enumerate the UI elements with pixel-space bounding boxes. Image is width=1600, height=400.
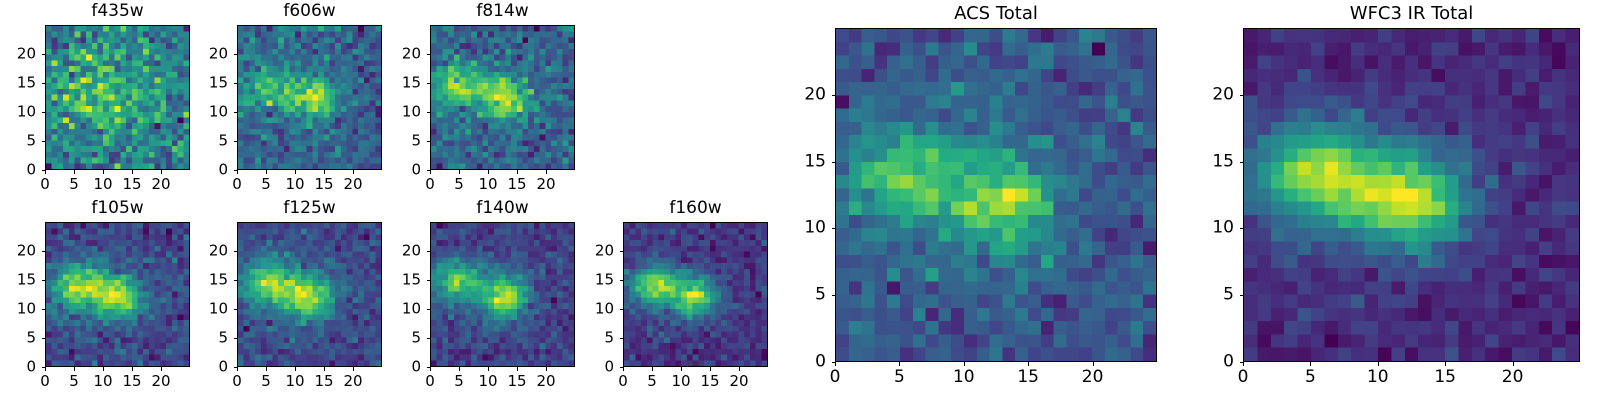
y-axis-tick	[427, 367, 431, 368]
x-axis-tick-label: 15	[122, 374, 141, 389]
y-axis-tick-label: 10	[194, 105, 228, 120]
x-axis-tick-label: 5	[1305, 369, 1316, 386]
y-axis-tick-label: 10	[792, 220, 826, 237]
panel-title: f125w	[237, 200, 382, 217]
y-axis-tick-label: 5	[194, 134, 228, 149]
x-axis-tick-label: 15	[507, 374, 526, 389]
x-axis-tick-label: 0	[232, 374, 242, 389]
x-axis-tick	[295, 367, 296, 371]
y-axis-tick-label: 15	[194, 76, 228, 91]
y-axis-tick	[620, 338, 624, 339]
x-axis-tick	[652, 367, 653, 371]
heatmap-image	[430, 25, 575, 170]
x-axis-tick-label: 20	[536, 177, 555, 192]
y-axis-tick-label: 5	[387, 331, 421, 346]
y-axis-tick	[427, 338, 431, 339]
y-axis-tick	[427, 170, 431, 171]
x-axis-tick	[739, 367, 740, 371]
y-axis-tick-label: 10	[387, 302, 421, 317]
y-axis-tick-label: 5	[2, 331, 36, 346]
y-axis-tick-label: 20	[194, 244, 228, 259]
panel-title: f814w	[430, 3, 575, 20]
y-axis-tick-label: 10	[1200, 220, 1234, 237]
y-axis-tick-label: 10	[2, 302, 36, 317]
x-axis-tick	[1513, 362, 1514, 366]
y-axis-tick	[427, 280, 431, 281]
y-axis-tick-label: 20	[580, 244, 614, 259]
x-axis-tick-label: 5	[454, 177, 464, 192]
x-axis-tick	[459, 170, 460, 174]
x-axis-tick	[324, 367, 325, 371]
y-axis-tick-label: 0	[387, 163, 421, 178]
panel-title: f140w	[430, 200, 575, 217]
y-axis-tick	[427, 141, 431, 142]
y-axis-tick	[234, 367, 238, 368]
y-axis-tick	[427, 112, 431, 113]
x-axis-tick	[488, 170, 489, 174]
x-axis-tick-label: 5	[261, 177, 271, 192]
x-axis-tick	[353, 170, 354, 174]
y-axis-tick	[620, 280, 624, 281]
x-axis-tick-label: 5	[454, 374, 464, 389]
x-axis-tick-label: 20	[729, 374, 748, 389]
y-axis-tick	[427, 251, 431, 252]
y-axis-tick	[1240, 362, 1244, 363]
panel-title: f606w	[237, 3, 382, 20]
y-axis-tick	[234, 141, 238, 142]
x-axis-tick-label: 20	[343, 177, 362, 192]
y-axis-tick	[620, 367, 624, 368]
x-axis-tick-label: 10	[285, 177, 304, 192]
x-axis-tick-label: 20	[343, 374, 362, 389]
x-axis-tick-label: 10	[478, 177, 497, 192]
y-axis-tick	[234, 309, 238, 310]
y-axis-tick	[832, 95, 836, 96]
x-axis-tick	[74, 367, 75, 371]
x-axis-tick-label: 5	[894, 369, 905, 386]
x-axis-tick	[517, 170, 518, 174]
x-axis-tick-label: 15	[314, 374, 333, 389]
x-axis-tick	[45, 170, 46, 174]
y-axis-tick	[234, 54, 238, 55]
y-axis-tick-label: 20	[194, 47, 228, 62]
y-axis-tick	[427, 54, 431, 55]
y-axis-tick	[832, 362, 836, 363]
y-axis-tick-label: 0	[2, 360, 36, 375]
figure-canvas: f435w0510152005101520f606w05101520051015…	[0, 0, 1600, 400]
x-axis-tick	[430, 170, 431, 174]
y-axis-tick-label: 5	[387, 134, 421, 149]
x-axis-tick-label: 15	[1017, 369, 1039, 386]
x-axis-tick	[488, 367, 489, 371]
y-axis-tick	[42, 338, 46, 339]
y-axis-tick	[42, 141, 46, 142]
y-axis-tick	[42, 170, 46, 171]
x-axis-tick	[1093, 362, 1094, 366]
y-axis-tick-label: 0	[194, 163, 228, 178]
x-axis-tick	[74, 170, 75, 174]
y-axis-tick-label: 15	[2, 273, 36, 288]
x-axis-tick	[430, 367, 431, 371]
y-axis-tick-label: 15	[1200, 153, 1234, 170]
y-axis-tick-label: 0	[1200, 354, 1234, 371]
y-axis-tick-label: 20	[792, 86, 826, 103]
x-axis-tick	[103, 170, 104, 174]
heatmap-image	[45, 222, 190, 367]
x-axis-tick-label: 0	[40, 177, 50, 192]
x-axis-tick-label: 10	[285, 374, 304, 389]
x-axis-tick-label: 0	[425, 374, 435, 389]
y-axis-tick-label: 5	[2, 134, 36, 149]
x-axis-tick-label: 15	[507, 177, 526, 192]
y-axis-tick-label: 15	[792, 153, 826, 170]
y-axis-tick-label: 10	[580, 302, 614, 317]
x-axis-tick-label: 5	[261, 374, 271, 389]
x-axis-tick	[459, 367, 460, 371]
x-axis-tick-label: 20	[151, 177, 170, 192]
y-axis-tick	[234, 251, 238, 252]
x-axis-tick	[132, 367, 133, 371]
x-axis-tick-label: 0	[232, 177, 242, 192]
x-axis-tick-label: 20	[536, 374, 555, 389]
heatmap-image	[45, 25, 190, 170]
x-axis-tick-label: 5	[69, 177, 79, 192]
heatmap-image	[623, 222, 768, 367]
y-axis-tick-label: 5	[792, 287, 826, 304]
y-axis-tick	[234, 170, 238, 171]
y-axis-tick	[234, 338, 238, 339]
x-axis-tick-label: 0	[425, 177, 435, 192]
y-axis-tick-label: 5	[580, 331, 614, 346]
y-axis-tick-label: 15	[387, 76, 421, 91]
y-axis-tick-label: 15	[580, 273, 614, 288]
x-axis-tick-label: 15	[314, 177, 333, 192]
y-axis-tick	[1240, 162, 1244, 163]
panel-title: ACS Total	[835, 5, 1157, 23]
y-axis-tick-label: 0	[792, 354, 826, 371]
y-axis-tick	[832, 162, 836, 163]
heatmap-image	[1243, 28, 1580, 362]
x-axis-tick	[835, 362, 836, 366]
y-axis-tick-label: 5	[194, 331, 228, 346]
x-axis-tick-label: 15	[1434, 369, 1456, 386]
x-axis-tick-label: 20	[1502, 369, 1524, 386]
x-axis-tick	[517, 367, 518, 371]
x-axis-tick	[103, 367, 104, 371]
y-axis-tick	[42, 112, 46, 113]
x-axis-tick	[546, 367, 547, 371]
x-axis-tick-label: 10	[478, 374, 497, 389]
y-axis-tick	[42, 280, 46, 281]
y-axis-tick-label: 20	[387, 47, 421, 62]
x-axis-tick	[324, 170, 325, 174]
x-axis-tick	[353, 367, 354, 371]
x-axis-tick	[681, 367, 682, 371]
y-axis-tick	[234, 280, 238, 281]
y-axis-tick	[620, 251, 624, 252]
y-axis-tick-label: 10	[387, 105, 421, 120]
y-axis-tick-label: 20	[1200, 86, 1234, 103]
x-axis-tick	[237, 170, 238, 174]
panel-title: f435w	[45, 3, 190, 20]
x-axis-tick	[295, 170, 296, 174]
x-axis-tick	[623, 367, 624, 371]
x-axis-tick	[266, 367, 267, 371]
x-axis-tick-label: 10	[953, 369, 975, 386]
y-axis-tick-label: 0	[194, 360, 228, 375]
x-axis-tick-label: 15	[700, 374, 719, 389]
heatmap-image	[835, 28, 1157, 362]
y-axis-tick	[620, 309, 624, 310]
y-axis-tick	[427, 83, 431, 84]
y-axis-tick-label: 0	[580, 360, 614, 375]
x-axis-tick	[45, 367, 46, 371]
x-axis-tick-label: 5	[69, 374, 79, 389]
x-axis-tick	[132, 170, 133, 174]
y-axis-tick-label: 20	[2, 47, 36, 62]
x-axis-tick-label: 0	[40, 374, 50, 389]
x-axis-tick	[237, 367, 238, 371]
y-axis-tick	[42, 367, 46, 368]
heatmap-image	[237, 25, 382, 170]
x-axis-tick	[1445, 362, 1446, 366]
y-axis-tick	[832, 228, 836, 229]
x-axis-tick	[710, 367, 711, 371]
y-axis-tick-label: 15	[2, 76, 36, 91]
y-axis-tick-label: 10	[194, 302, 228, 317]
y-axis-tick	[42, 54, 46, 55]
y-axis-tick	[42, 251, 46, 252]
y-axis-tick-label: 0	[2, 163, 36, 178]
x-axis-tick	[964, 362, 965, 366]
x-axis-tick	[1028, 362, 1029, 366]
y-axis-tick	[234, 112, 238, 113]
x-axis-tick	[546, 170, 547, 174]
y-axis-tick	[1240, 95, 1244, 96]
x-axis-tick-label: 20	[151, 374, 170, 389]
y-axis-tick-label: 0	[387, 360, 421, 375]
y-axis-tick	[234, 83, 238, 84]
x-axis-tick-label: 0	[1238, 369, 1249, 386]
y-axis-tick-label: 5	[1200, 287, 1234, 304]
y-axis-tick-label: 20	[387, 244, 421, 259]
x-axis-tick-label: 20	[1082, 369, 1104, 386]
x-axis-tick	[161, 367, 162, 371]
x-axis-tick	[1378, 362, 1379, 366]
x-axis-tick	[1310, 362, 1311, 366]
x-axis-tick-label: 10	[1367, 369, 1389, 386]
x-axis-tick	[1243, 362, 1244, 366]
panel-title: WFC3 IR Total	[1243, 5, 1580, 23]
x-axis-tick-label: 5	[647, 374, 657, 389]
x-axis-tick-label: 0	[618, 374, 628, 389]
panel-title: f160w	[623, 200, 768, 217]
y-axis-tick-label: 15	[194, 273, 228, 288]
y-axis-tick	[42, 309, 46, 310]
y-axis-tick	[42, 83, 46, 84]
y-axis-tick	[1240, 228, 1244, 229]
heatmap-image	[430, 222, 575, 367]
y-axis-tick-label: 10	[2, 105, 36, 120]
y-axis-tick-label: 20	[2, 244, 36, 259]
y-axis-tick-label: 15	[387, 273, 421, 288]
x-axis-tick-label: 10	[93, 374, 112, 389]
panel-title: f105w	[45, 200, 190, 217]
x-axis-tick-label: 0	[830, 369, 841, 386]
heatmap-image	[237, 222, 382, 367]
x-axis-tick	[899, 362, 900, 366]
y-axis-tick	[1240, 295, 1244, 296]
x-axis-tick-label: 10	[671, 374, 690, 389]
x-axis-tick	[266, 170, 267, 174]
x-axis-tick	[161, 170, 162, 174]
x-axis-tick-label: 10	[93, 177, 112, 192]
x-axis-tick-label: 15	[122, 177, 141, 192]
y-axis-tick	[427, 309, 431, 310]
y-axis-tick	[832, 295, 836, 296]
